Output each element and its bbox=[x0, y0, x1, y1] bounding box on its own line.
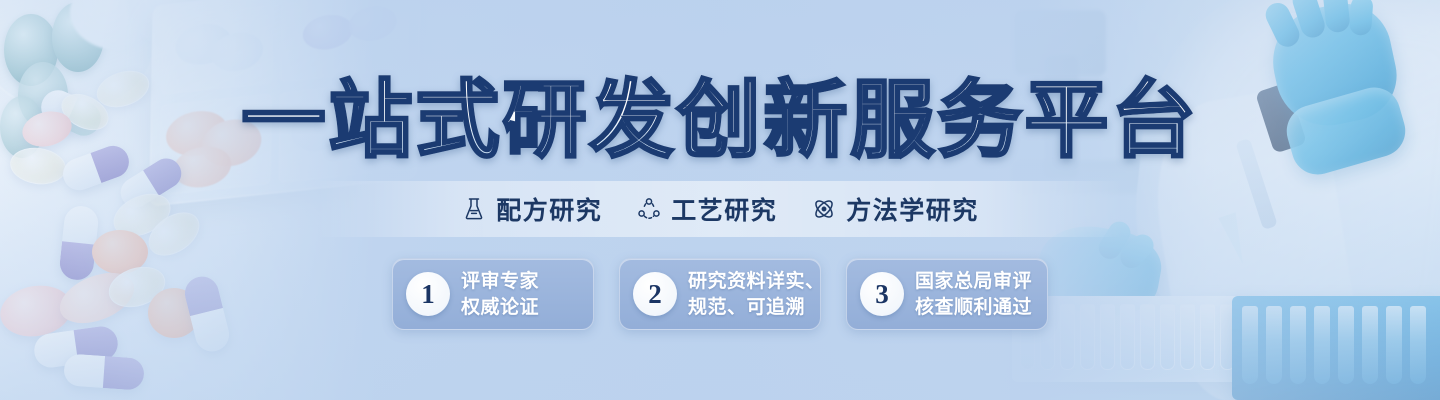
subtitle-row: 配方研究 工艺研究 bbox=[0, 181, 1440, 237]
subtitle-item-methodology[interactable]: 方法学研究 bbox=[811, 191, 979, 227]
molecule-icon bbox=[636, 196, 662, 222]
feature-number-badge: 2 bbox=[633, 272, 677, 316]
subtitle-item-label: 方法学研究 bbox=[846, 191, 979, 227]
flask-icon bbox=[461, 196, 487, 222]
feature-box-2[interactable]: 2 研究资料详实、 规范、可追溯 bbox=[619, 258, 821, 330]
feature-text: 国家总局审评 核查顺利通过 bbox=[915, 269, 1032, 320]
feature-text: 研究资料详实、 规范、可追溯 bbox=[688, 269, 825, 320]
promo-banner: 一站式研发创新服务平台 配方研究 bbox=[0, 0, 1440, 400]
subtitle-item-label: 配方研究 bbox=[496, 191, 602, 227]
feature-number-badge: 3 bbox=[860, 272, 904, 316]
atom-icon bbox=[811, 196, 837, 222]
banner-content: 一站式研发创新服务平台 配方研究 bbox=[0, 0, 1440, 400]
feature-line-2: 核查顺利通过 bbox=[915, 295, 1032, 320]
subtitle-item-formulation[interactable]: 配方研究 bbox=[461, 191, 602, 227]
subtitle-item-label: 工艺研究 bbox=[671, 191, 777, 227]
feature-line-2: 规范、可追溯 bbox=[688, 295, 825, 320]
feature-box-3[interactable]: 3 国家总局审评 核查顺利通过 bbox=[846, 258, 1048, 330]
subtitle-item-process[interactable]: 工艺研究 bbox=[636, 191, 777, 227]
feature-line-2: 权威论证 bbox=[461, 295, 539, 320]
feature-box-1[interactable]: 1 评审专家 权威论证 bbox=[392, 258, 594, 330]
feature-row: 1 评审专家 权威论证 2 研究资料详实、 规范、可追溯 3 国家总局审评 核查… bbox=[0, 258, 1440, 330]
feature-line-1: 国家总局审评 bbox=[915, 269, 1032, 294]
feature-number-badge: 1 bbox=[406, 272, 450, 316]
feature-line-1: 评审专家 bbox=[461, 269, 539, 294]
banner-title: 一站式研发创新服务平台 bbox=[0, 72, 1440, 168]
feature-line-1: 研究资料详实、 bbox=[688, 269, 825, 294]
feature-text: 评审专家 权威论证 bbox=[461, 269, 539, 320]
